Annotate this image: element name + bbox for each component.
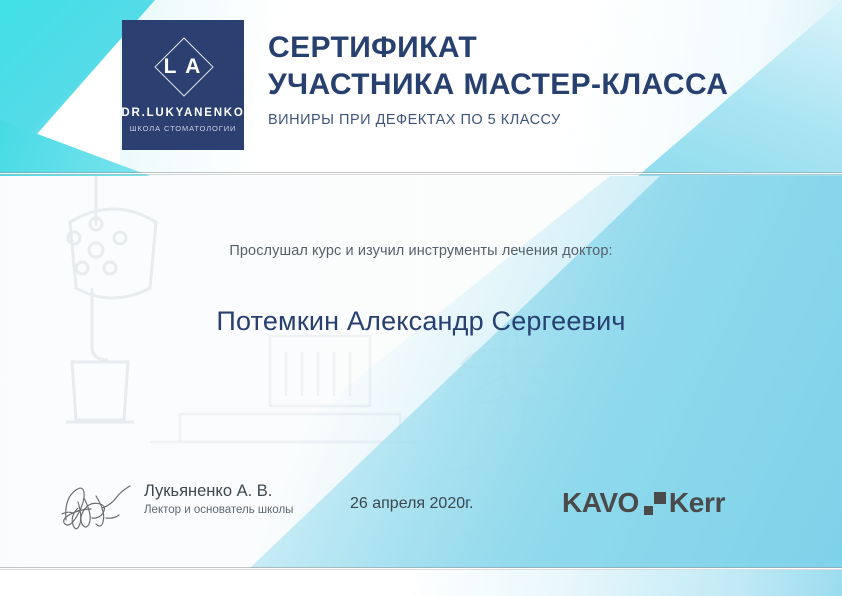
handwritten-signature-icon	[58, 478, 136, 530]
footer-gradient-strip	[0, 570, 842, 596]
sponsor-name-kerr: Kerr	[669, 489, 725, 517]
award-intro-text: Прослушал курс и изучил инструменты лече…	[0, 243, 842, 259]
signature-caption: Лукьяненко А. В. Лектор и основатель шко…	[144, 476, 293, 516]
logo-brand-subtitle: ШКОЛА СТОМАТОЛОГИИ	[130, 124, 237, 133]
school-logo: L A DR.LUKYANENKO ШКОЛА СТОМАТОЛОГИИ	[122, 20, 244, 150]
diamond-monogram-icon: L A	[152, 35, 214, 97]
signer-role: Лектор и основатель школы	[144, 504, 293, 516]
sponsor-logo-kavo-kerr: KAVO Kerr	[562, 489, 725, 517]
logo-brand-name: DR.LUKYANENKO	[121, 107, 244, 119]
certificate-title-line-1: СЕРТИФИКАТ	[268, 30, 788, 67]
divider-top	[0, 172, 842, 175]
divider-bottom	[0, 567, 842, 570]
signature-block: Лукьяненко А. В. Лектор и основатель шко…	[58, 476, 293, 530]
issue-date: 26 апреля 2020г.	[350, 495, 473, 513]
two-offset-squares-icon	[643, 490, 667, 516]
certificate-title-block: СЕРТИФИКАТ УЧАСТНИКА МАСТЕР-КЛАССА ВИНИР…	[268, 30, 788, 128]
certificate-title-line-2: УЧАСТНИКА МАСТЕР-КЛАССА	[268, 67, 788, 104]
certificate-subtitle: ВИНИРЫ ПРИ ДЕФЕКТАХ ПО 5 КЛАССУ	[268, 112, 788, 128]
recipient-name: Потемкин Александр Сергеевич	[0, 306, 842, 337]
logo-monogram-text: L A	[152, 35, 214, 97]
signer-name: Лукьяненко А. В.	[144, 482, 293, 501]
certificate-page: L A DR.LUKYANENKO ШКОЛА СТОМАТОЛОГИИ СЕР…	[0, 0, 842, 596]
sponsor-name-kavo: KAVO	[562, 489, 639, 517]
